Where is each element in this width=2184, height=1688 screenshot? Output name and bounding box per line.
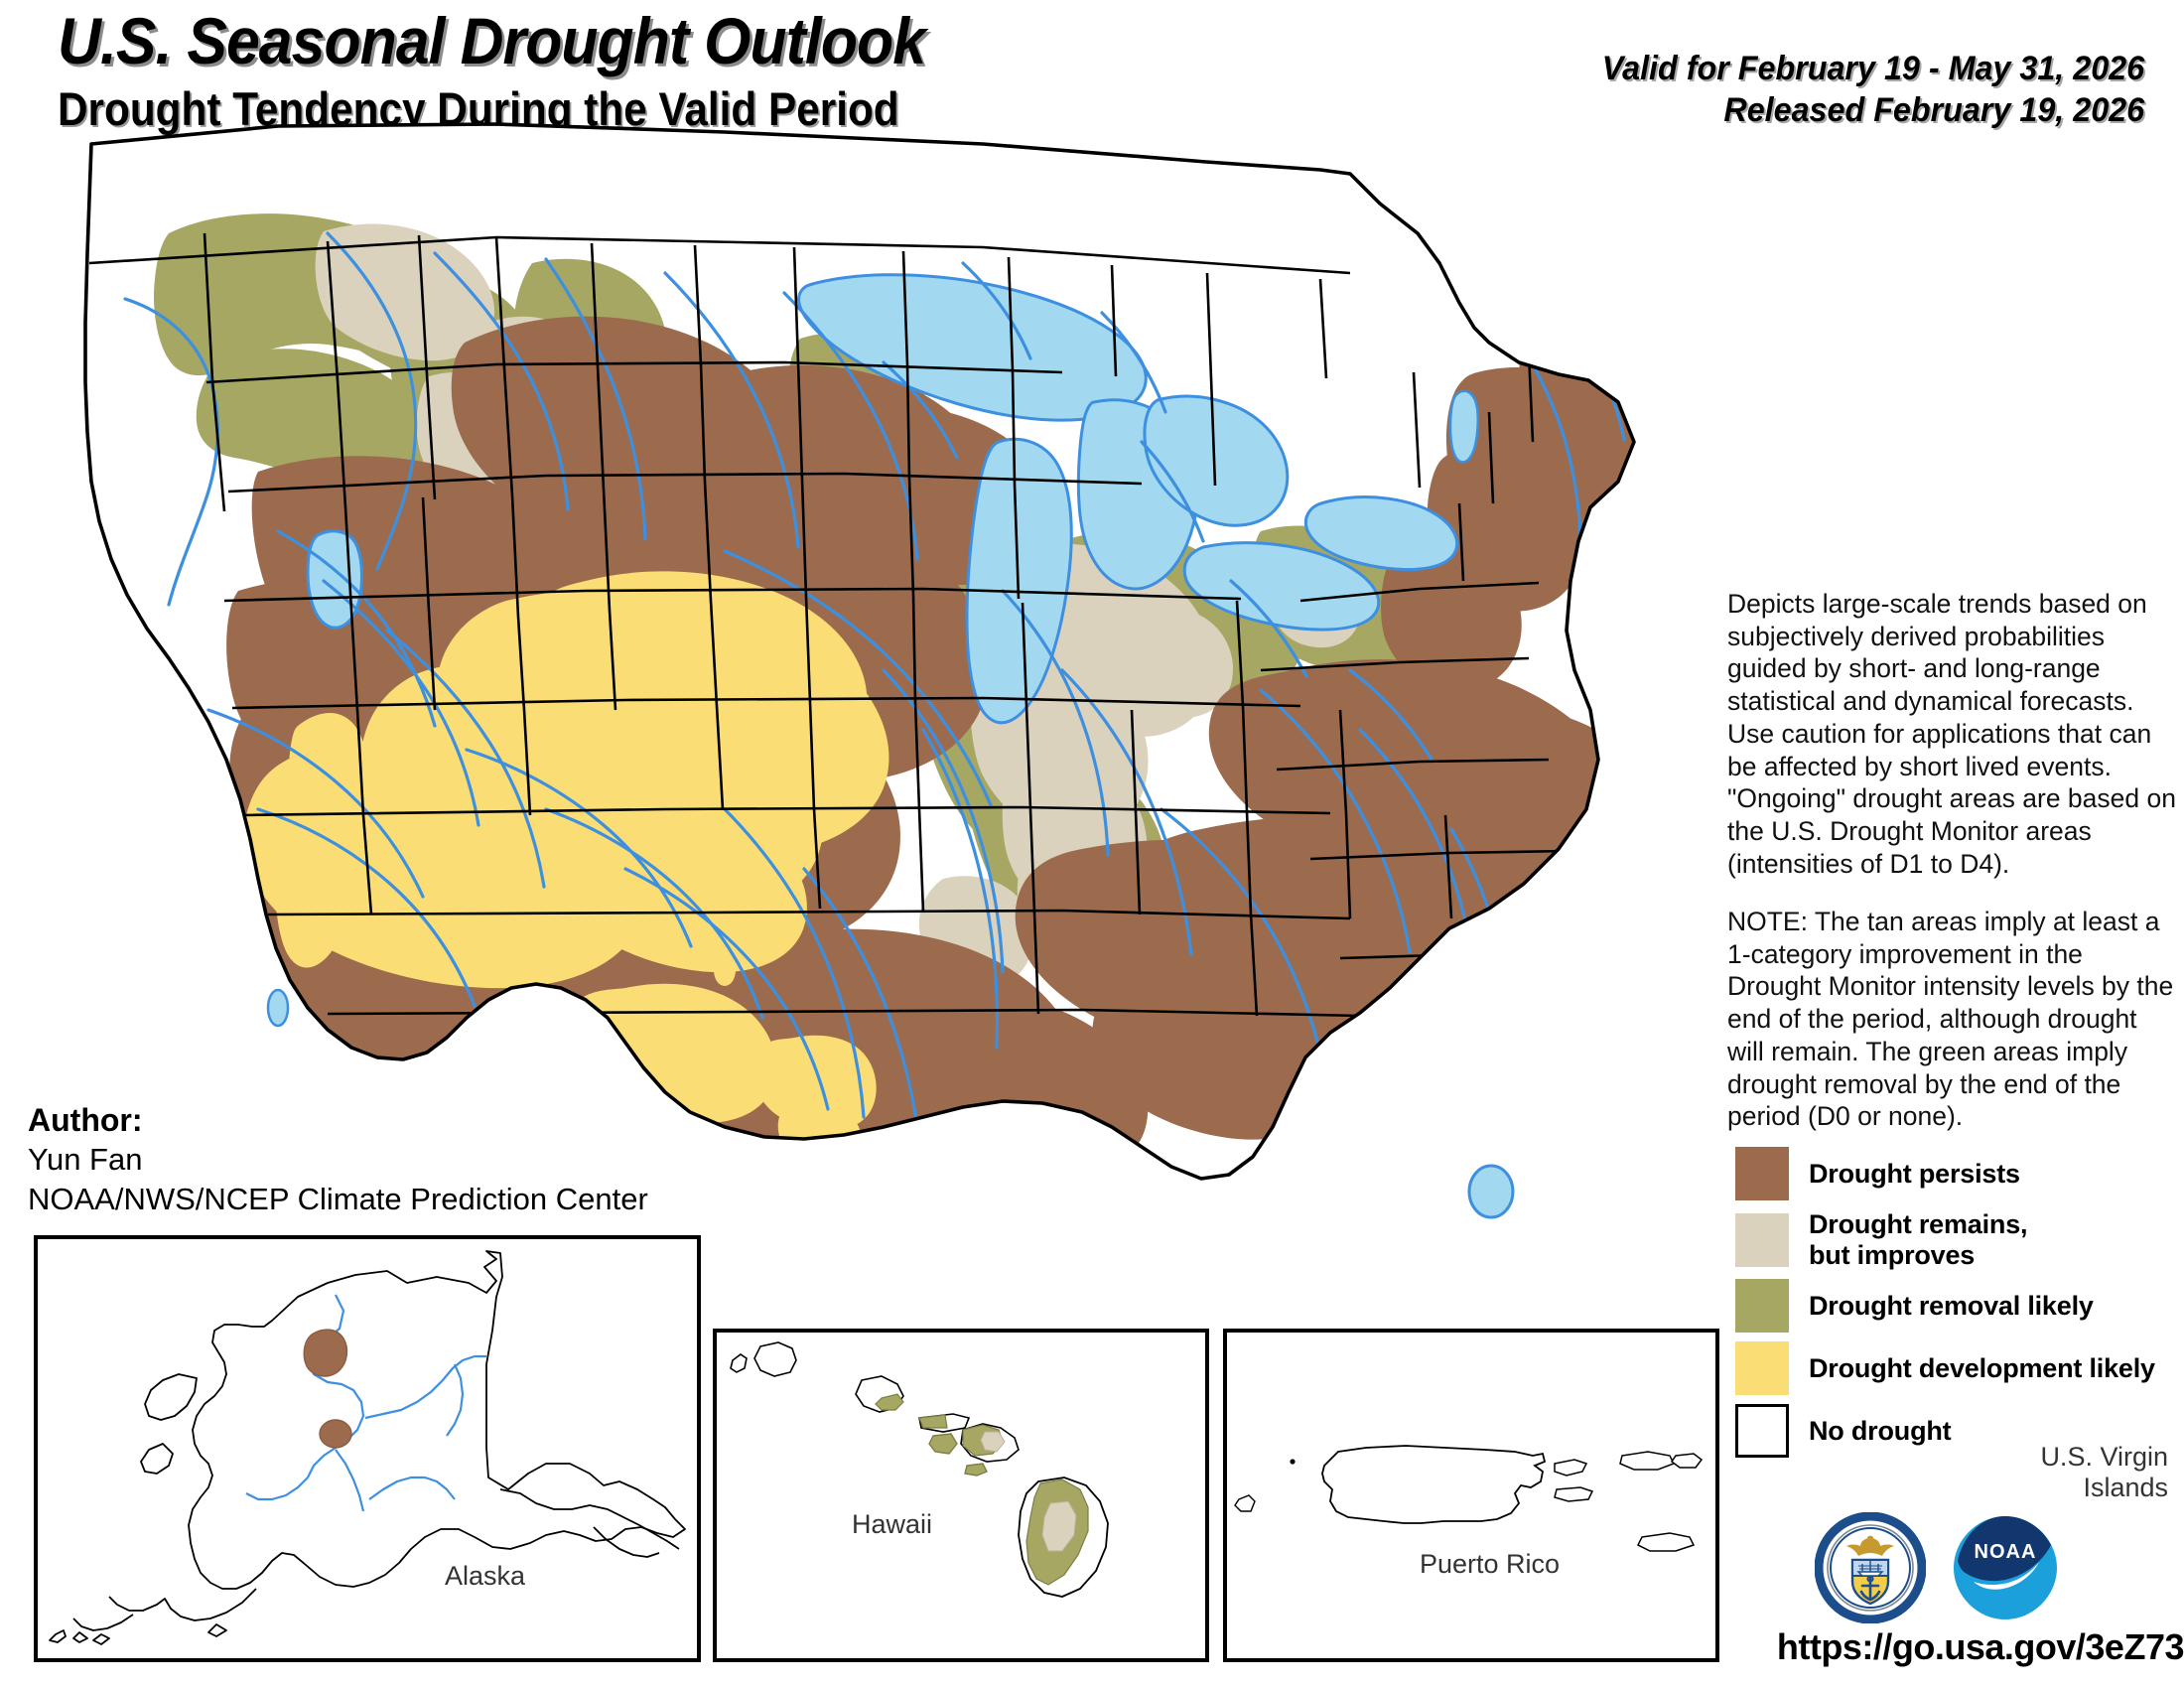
legend-label: Drought persists (1809, 1159, 2020, 1190)
legend-row: Drought development likely (1735, 1341, 2182, 1395)
alaska-inset-map (34, 1235, 701, 1662)
footer-url[interactable]: https://go.usa.gov/3eZ73 (1727, 1626, 2184, 1668)
legend-row: No drought (1735, 1404, 2182, 1458)
legend-label: Drought removal likely (1809, 1291, 2094, 1322)
author-block: Author: Yun Fan NOAA/NWS/NCEP Climate Pr… (28, 1100, 648, 1220)
noaa-wordmark: NOAA (1975, 1541, 2037, 1563)
legend-swatch (1735, 1279, 1789, 1333)
author-heading: Author: (28, 1100, 648, 1140)
legend-swatch (1735, 1213, 1789, 1267)
alaska-inset-label: Alaska (445, 1561, 525, 1592)
legend-label: Drought development likely (1809, 1353, 2155, 1384)
author-name: Yun Fan (28, 1140, 648, 1180)
map-legend: Drought persistsDrought remains,but impr… (1735, 1147, 2182, 1467)
legend-row: Drought removal likely (1735, 1279, 2182, 1333)
valid-period-text: Valid for February 19 - May 31, 2026 (1602, 48, 2144, 89)
noaa-logo-icon: NOAA (1950, 1512, 2061, 1623)
legend-row: Drought remains,but improves (1735, 1209, 2182, 1270)
legend-swatch (1735, 1341, 1789, 1395)
legend-swatch (1735, 1147, 1789, 1200)
puerto-rico-inset-label: Puerto Rico (1420, 1549, 1560, 1580)
legend-label: No drought (1809, 1416, 1951, 1447)
puerto-rico-inset-map (1223, 1329, 1719, 1662)
hawaii-inset-map (713, 1329, 1209, 1662)
legend-swatch (1735, 1404, 1789, 1458)
note-paragraph: NOTE: The tan areas imply at least a 1-c… (1727, 906, 2179, 1133)
legend-label: Drought remains,but improves (1809, 1209, 2027, 1270)
hawaii-inset-label: Hawaii (852, 1509, 932, 1540)
page-title: U.S. Seasonal Drought Outlook (58, 8, 925, 73)
conus-drought-map (30, 114, 1717, 1425)
legend-row: Drought persists (1735, 1147, 2182, 1200)
alaska-drought-areas (304, 1330, 351, 1448)
department-of-commerce-seal-icon (1815, 1512, 1926, 1623)
author-organization: NOAA/NWS/NCEP Climate Prediction Center (28, 1180, 648, 1219)
agency-logos: NOAA (1815, 1512, 2061, 1623)
methodology-paragraph: Depicts large-scale trends based on subj… (1727, 588, 2179, 880)
